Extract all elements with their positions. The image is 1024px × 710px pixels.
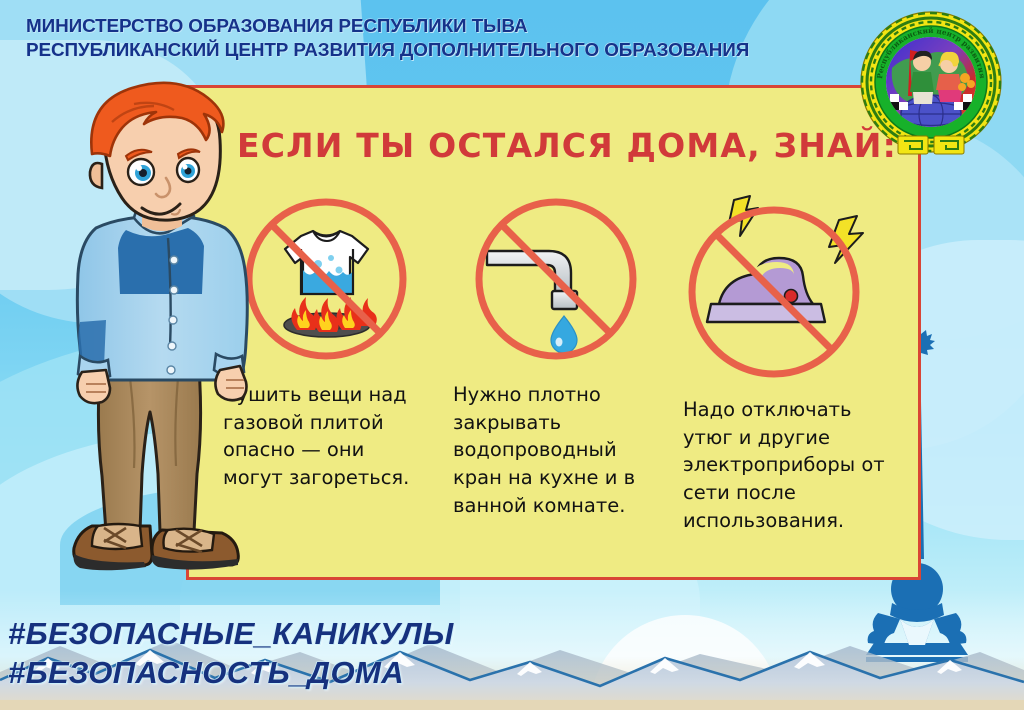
ministry-title-line1: МИНИСТЕРСТВО ОБРАЗОВАНИЯ РЕСПУБЛИКИ ТЫВА <box>26 14 749 38</box>
center-title-line2: РЕСПУБЛИКАНСКИЙ ЦЕНТР РАЗВИТИЯ ДОПОЛНИТЕ… <box>26 38 749 62</box>
poster-canvas: МИНИСТЕРСТВО ОБРАЗОВАНИЯ РЕСПУБЛИКИ ТЫВА… <box>0 0 1024 710</box>
content-panel: ЕСЛИ ТЫ ОСТАЛСЯ ДОМА, ЗНАЙ: <box>186 85 921 580</box>
tip-card-text: Надо отключать утюг и другие электроприб… <box>683 396 889 534</box>
no-running-faucet-icon <box>469 192 644 367</box>
tip-card-faucet: Нужно плотно закрывать водопроводный кра… <box>453 192 659 534</box>
tip-card-iron: Надо отключать утюг и другие электроприб… <box>683 192 889 534</box>
page-title: ЕСЛИ ТЫ ОСТАЛСЯ ДОМА, ЗНАЙ: <box>237 126 897 165</box>
header-titles: МИНИСТЕРСТВО ОБРАЗОВАНИЯ РЕСПУБЛИКИ ТЫВА… <box>26 14 735 61</box>
tips-card-list: Сушить вещи над газовой плитой опасно — … <box>223 192 893 534</box>
tip-card-text: Нужно плотно закрывать водопроводный кра… <box>453 381 659 519</box>
hashtag-safety-at-home: #БЕЗОПАСНОСТЬ_ДОМА <box>8 653 454 692</box>
no-plugged-in-iron-icon <box>679 192 875 382</box>
rcdo-emblem-logo: Республиканский центр развития дополните… <box>852 10 1010 160</box>
hashtag-safe-holidays: #БЕЗОПАСНЫЕ_КАНИКУЛЫ <box>8 614 454 653</box>
hashtags-block: #БЕЗОПАСНЫЕ_КАНИКУЛЫ #БЕЗОПАСНОСТЬ_ДОМА <box>8 614 454 692</box>
cartoon-boy-illustration <box>38 78 288 598</box>
